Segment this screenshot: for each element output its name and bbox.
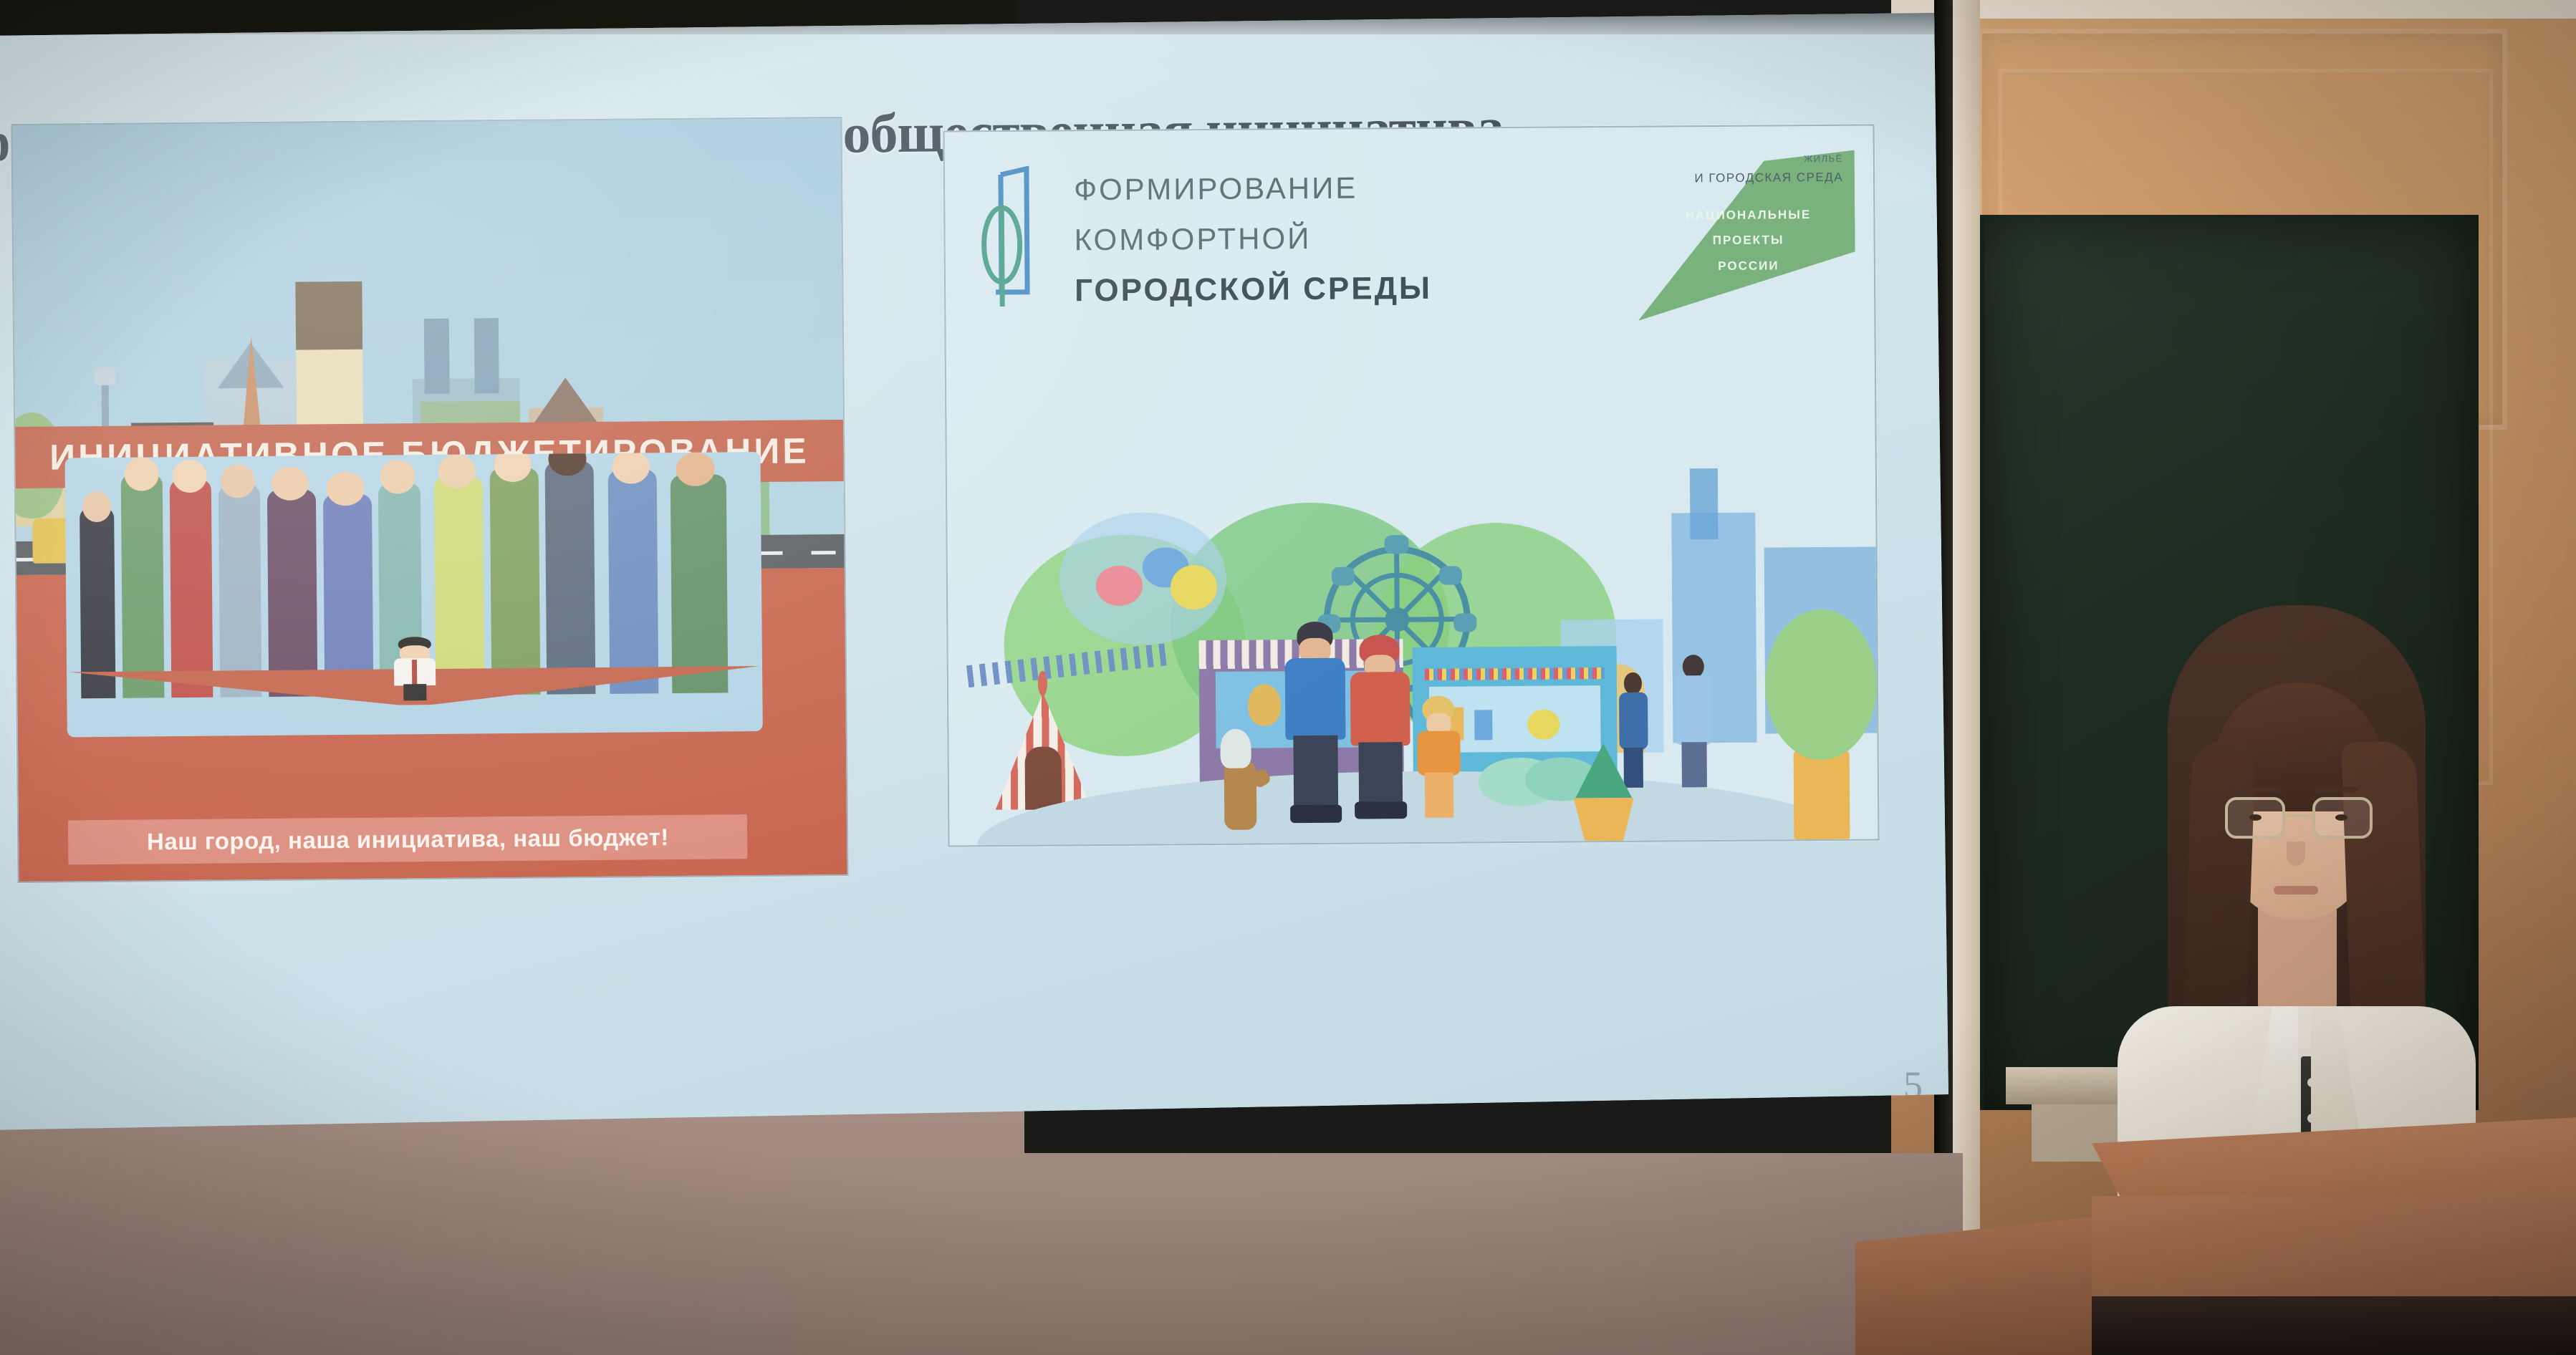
- crowd-person: [267, 489, 317, 697]
- park-person-background-left: [1673, 655, 1716, 788]
- potted-plant: [1562, 743, 1646, 842]
- trash-bin: [1794, 751, 1850, 839]
- person-trousers: [1293, 736, 1337, 809]
- crowd-person: [489, 468, 540, 695]
- person-coat: [1350, 672, 1410, 746]
- podium: [2092, 1117, 2576, 1355]
- projection-screen: форма местного самоуправления и обществе…: [0, 13, 1963, 1130]
- balloon: [1096, 566, 1143, 606]
- child-dress: [1417, 730, 1460, 776]
- comfortable-urban-env-logo: ФОРМИРОВАНИЕ КОМФОРТНОЙ ГОРОДСКОЙ СРЕДЫ: [979, 163, 1432, 309]
- eye-left: [2249, 814, 2262, 821]
- ceiling-strip: [1891, 0, 2576, 19]
- child-legs: [1424, 773, 1453, 818]
- dog-body: [1224, 761, 1256, 830]
- crowd-head: [438, 454, 476, 488]
- park-dog: [1218, 719, 1274, 834]
- person-head: [1624, 672, 1643, 695]
- plant-pot: [1574, 798, 1634, 841]
- banner-slogan: Наш город, наша инициатива, наш бюджет!: [68, 814, 747, 864]
- park-person-child: [1413, 696, 1464, 820]
- badge-line-1: ЖИЛЬЁ: [1804, 153, 1843, 164]
- tent-entrance: [1025, 746, 1062, 809]
- building: [424, 318, 450, 394]
- park-illustration: [946, 397, 1878, 846]
- badge-box-line-2: ПРОЕКТЫ: [1713, 233, 1784, 248]
- speaker-figure: [393, 637, 436, 701]
- eyebrow-right: [2315, 787, 2358, 792]
- person-trousers: [1358, 742, 1403, 806]
- park-person-adult-male: [1282, 622, 1349, 826]
- person-jacket: [1285, 658, 1345, 740]
- screenshot-root: форма местного самоуправления и обществе…: [0, 0, 2576, 1355]
- building-loop-icon: [979, 166, 1046, 310]
- mouth: [2274, 886, 2318, 895]
- person-body: [1619, 692, 1648, 750]
- logo-line-3: ГОРОДСКОЙ СРЕДЫ: [1075, 271, 1432, 309]
- glasses-bridge: [2285, 814, 2312, 817]
- speaker-tie: [412, 660, 417, 685]
- person-legs: [1681, 742, 1706, 787]
- eyeglasses: [2225, 797, 2373, 842]
- wall-below-screen-right: [788, 1153, 1963, 1355]
- dog-head: [1220, 729, 1251, 768]
- foreground-tree: [1765, 609, 1878, 760]
- badge-box-line-3: РОССИИ: [1718, 259, 1779, 274]
- banner-slogan-label: Наш город, наша инициатива, наш бюджет!: [147, 824, 669, 855]
- crowd-head: [676, 452, 715, 486]
- national-project-badge: ЖИЛЬЁ И ГОРОДСКАЯ СРЕДА НАЦИОНАЛЬНЫЕ ПРО…: [1628, 150, 1856, 321]
- speaker-legs: [403, 684, 427, 701]
- crowd-person: [218, 484, 262, 697]
- crowd-person: [607, 469, 658, 693]
- crowd-person: [80, 508, 116, 698]
- logo-line-1: ФОРМИРОВАНИЕ: [1074, 170, 1431, 207]
- eye-right: [2335, 814, 2347, 821]
- person-shoes: [1290, 805, 1342, 824]
- crowd-person: [434, 476, 485, 695]
- building: [474, 318, 499, 394]
- crowd-person: [671, 474, 728, 693]
- right-poster-panel: ФОРМИРОВАНИЕ КОМФОРТНОЙ ГОРОДСКОЙ СРЕДЫ …: [943, 124, 1880, 847]
- left-poster-panel: ИНИЦИАТИВНОЕ БЮДЖЕТИРОВАНИЕ: [11, 117, 848, 883]
- eyebrow-left: [2238, 787, 2281, 792]
- crowd-illustration: [65, 452, 763, 738]
- plant-leaves: [1575, 743, 1633, 799]
- crowd-person: [170, 479, 213, 698]
- crowd-person: [121, 473, 165, 698]
- stall-garland: [1425, 667, 1605, 681]
- logo-line-2: КОМФОРТНОЙ: [1074, 221, 1431, 257]
- crowd-head: [124, 457, 159, 491]
- person-body: [1675, 675, 1712, 745]
- crowd-head: [82, 491, 112, 521]
- badge-box-line-1: НАЦИОНАЛЬНЫЕ: [1686, 208, 1812, 223]
- balloon: [1171, 565, 1217, 609]
- building-tower: [1690, 468, 1719, 539]
- person-shoes: [1355, 801, 1407, 819]
- crowd-person: [323, 494, 373, 696]
- nose: [2287, 842, 2305, 866]
- building: [295, 281, 362, 350]
- crowd-head: [327, 472, 365, 506]
- badge-box: НАЦИОНАЛЬНЫЕ ПРОЕКТЫ РОССИИ: [1667, 196, 1830, 285]
- badge-line-2: И ГОРОДСКАЯ СРЕДА: [1694, 170, 1843, 185]
- street-lamp-head: [94, 367, 115, 386]
- crowd-person: [545, 461, 596, 694]
- slide: форма местного самоуправления и обществе…: [0, 34, 1963, 1123]
- podium-shadow: [2092, 1296, 2576, 1355]
- park-person-adult-female: [1347, 635, 1414, 821]
- crowd-head: [612, 452, 650, 484]
- doorframe-light-edge: [1953, 0, 1980, 1355]
- logo-text: ФОРМИРОВАНИЕ КОМФОРТНОЙ ГОРОДСКОЙ СРЕДЫ: [1074, 163, 1432, 309]
- stall-goods: [1474, 710, 1493, 741]
- person-head: [1683, 655, 1705, 679]
